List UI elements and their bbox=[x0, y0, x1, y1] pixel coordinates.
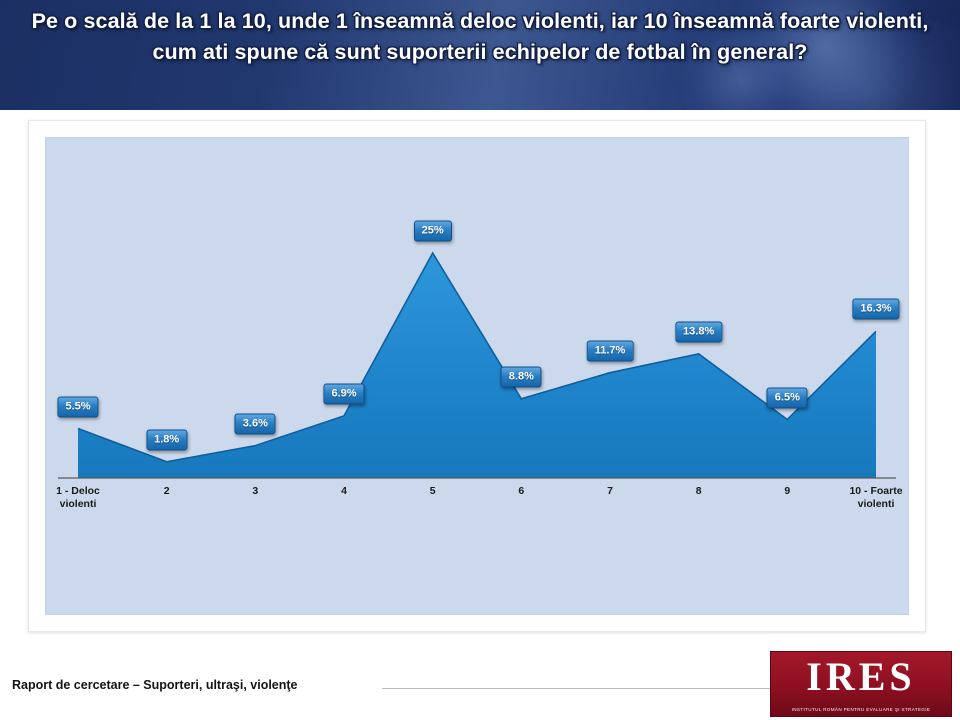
data-point-label: 13.8% bbox=[675, 321, 722, 342]
data-point-label: 25% bbox=[414, 221, 452, 242]
data-point-label: 3.6% bbox=[235, 413, 276, 434]
footer-divider bbox=[382, 688, 830, 689]
x-axis-tick-label: 10 - Foarte violenti bbox=[820, 485, 932, 511]
ires-logo-subtitle: INSTITUTUL ROMÂN PENTRU EVALUARE ŞI STRA… bbox=[771, 706, 951, 713]
area-series bbox=[78, 253, 876, 478]
data-point-label: 16.3% bbox=[852, 299, 899, 320]
ires-logo: IRES INSTITUTUL ROMÂN PENTRU EVALUARE ŞI… bbox=[770, 651, 952, 717]
page-title: Pe o scală de la 1 la 10, unde 1 înseamn… bbox=[0, 6, 960, 68]
chart-card: 1 - Deloc violenti2345678910 - Foarte vi… bbox=[28, 120, 926, 632]
data-point-label: 6.5% bbox=[767, 387, 808, 408]
data-point-label: 6.9% bbox=[323, 383, 364, 404]
footer: Raport de cercetare – Suporteri, ultraşi… bbox=[0, 648, 960, 720]
chart-plot-area: 1 - Deloc violenti2345678910 - Foarte vi… bbox=[45, 137, 909, 615]
ires-logo-mark: IRES bbox=[771, 654, 951, 700]
data-point-label: 8.8% bbox=[501, 366, 542, 387]
area-chart-svg bbox=[46, 138, 908, 614]
report-title: Raport de cercetare – Suporteri, ultraşi… bbox=[12, 678, 298, 692]
data-point-label: 11.7% bbox=[587, 340, 634, 361]
data-point-label: 1.8% bbox=[146, 429, 187, 450]
header-banner: Pe o scală de la 1 la 10, unde 1 înseamn… bbox=[0, 0, 960, 110]
data-point-label: 5.5% bbox=[57, 396, 98, 417]
